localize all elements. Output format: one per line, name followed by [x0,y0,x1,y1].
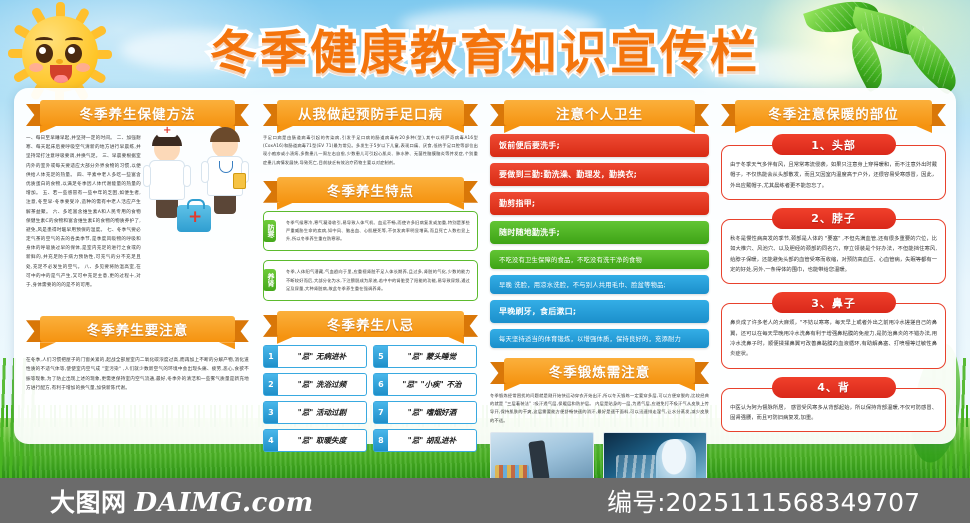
hygiene-item: 早晚 洗脸，用凉水洗脸，不与别人共用毛巾、脸盆等物品; [490,275,709,294]
warmth-card-head: 1、头部 由于冬季天气多伴有风，且常常寒流侵袭，如果只注意身上穿得暖和，而不注意… [721,134,946,200]
card-title: 3、鼻子 [772,292,896,313]
item-number: 6 [374,374,388,395]
list-item: 5"忌" 蒙头睡觉 [373,345,477,368]
warmth-card-back: 4、背 中医认为阿为督脉所居， 感冒受风寒多从背部起始，所以保持背部温暖,不仅可… [721,377,946,433]
section-banner-warm-body-parts: 冬季注意保暖的部位 [721,100,946,126]
section-banner-hfmd: 从我做起预防手足口病 [263,100,478,126]
item-label: "忌" 胡乱进补 [388,435,476,446]
item-number: 4 [264,430,278,451]
hygiene-bar-list: 饭前便后要洗手; 要做到三勤:勤洗澡、勤理发，勤换衣; 勤剪指甲; 随时随地勤洗… [490,134,709,348]
content-panel: 冬季养生保健方法 一、每日至早睡早起,并坚持一定的时间。 二、加强耐寒、每天起床… [14,88,956,444]
list-item: 3"忌" 活动过剧 [263,401,367,424]
characteristic-tag: 养肾 [263,269,276,291]
warmth-card-nose: 3、鼻子 鼻炎成了许多老人的大麻烦，"不妨以寒寒，每天早上或者外出之前用冷水搓搓… [721,292,946,368]
item-number: 7 [374,402,388,423]
card-title: 1、头部 [772,134,896,155]
brand-latin: DAIMG.com [135,488,314,518]
section-title: 冬季养生要注意 [40,316,235,342]
section-title: 冬季养生保健方法 [40,100,235,126]
section-banner-eight-taboos: 冬季养生八忌 [263,311,478,337]
hygiene-item: 随时随地勤洗手; [490,221,709,244]
item-label: "忌" "小疾" 不治 [388,379,476,390]
winter-cautions-text: 在冬季,人们习惯把屋子的门窗关紧的,起战全部屋室内二氧化碳浓度过高,而再加上不断… [26,356,249,393]
list-item: 4"忌" 取暖失度 [263,429,367,452]
eight-taboos-list: 1"忌" 无病进补 5"忌" 蒙头睡觉 2"忌" 洗浴过频 6"忌" "小疾" … [263,345,478,452]
hygiene-item: 早晚刷牙，食后漱口; [490,300,709,323]
section-banner-winter-exercise: 冬季锻炼需注意 [490,358,709,384]
section-title: 冬季养生八忌 [277,311,464,337]
card-body: 鼻炎成了许多老人的大麻烦，"不妨以寒寒，每天早上或者外出之前用冷水搓搓自己的鼻翼… [721,303,946,368]
item-label: "忌" 洗浴过频 [278,379,366,390]
poster-title-wrap: 冬季健康教育知识宣传栏 [0,14,970,83]
column-hfmd-and-characteristics: 从我做起预防手足口病 手足口病是由肠道病毒引起的传染病,引发手足口病的肠道病毒有… [259,96,482,438]
list-item: 8"忌" 胡乱进补 [373,429,477,452]
item-label: "忌" 蒙头睡觉 [388,351,476,362]
doctors-illustration [147,130,251,234]
item-label: "忌" 活动过剧 [278,407,366,418]
list-item: 6"忌" "小疾" 不治 [373,373,477,396]
item-number: 3 [264,402,278,423]
item-number: 5 [374,346,388,367]
section-title: 注意个人卫生 [504,100,695,126]
item-label: "忌" 无病进补 [278,351,366,362]
card-title: 2、脖子 [772,208,896,229]
list-item: 7"忌" 嗜烟好酒 [373,401,477,424]
hygiene-item: 每天坚持适当的体育锻炼，以增强体质，保持良好的，充添耐力 [490,329,709,348]
card-title: 4、背 [772,377,896,398]
section-banner-characteristics: 冬季养生特点 [263,177,478,203]
site-brand: 大图网 DAIMG.com [50,483,314,519]
column-personal-hygiene: 注意个人卫生 饭前便后要洗手; 要做到三勤:勤洗澡、勤理发，勤换衣; 勤剪指甲;… [486,96,713,438]
image-code: 编号:2025111568349707 [607,483,920,519]
hygiene-item: 勤剪指甲; [490,192,709,215]
item-label: "忌" 嗜烟好酒 [388,407,476,418]
item-label: "忌" 取暖失度 [278,435,366,446]
poster-root: 冬季健康教育知识宣传栏 冬季养生保健方法 [0,0,970,523]
footer-bar: 大图网 DAIMG.com 编号:2025111568349707 [0,478,970,523]
section-banner-health-methods: 冬季养生保健方法 [26,100,249,126]
winter-exercise-text: 冬季锻炼经常困扰的问题就是刚开始快运动穿衣开始出汗,所以冬天锻练一定要穿多层,可… [490,392,709,425]
section-title: 冬季养生特点 [277,177,464,203]
section-banner-personal-hygiene: 注意个人卫生 [490,100,709,126]
characteristic-box-kidney-nourishing: 养肾 冬季,人体阳气潜藏,气血趋向于里,应重视肾脏不足人体长期养,且过多,肾脏的… [263,260,478,301]
characteristic-text: 冬季气候寒冷,寒气凝滞收引,易导致人体气机、血运不畅,而使许多旧病复发或加重,特… [286,219,470,244]
list-item: 1"忌" 无病进补 [263,345,367,368]
item-number: 8 [374,430,388,451]
characteristic-text: 冬季,人体阳气潜藏,气血趋向于里,应重视肾脏不足人体长期养,且过多,肾脏的气化,… [286,268,470,293]
medical-kit-icon [177,205,211,232]
hygiene-item: 不吃没有卫生保障的食品，不吃没有洗干净的食物 [490,250,709,269]
hfmd-text: 手足口病是由肠道病毒引起的传染病,引发手足口病的肠道病毒有20多种(型),其中以… [263,134,478,167]
section-banner-winter-cautions: 冬季养生要注意 [26,316,249,342]
section-title: 冬季锻炼需注意 [504,358,695,384]
item-number: 2 [264,374,278,395]
list-item: 2"忌" 洗浴过频 [263,373,367,396]
column-body-parts-warmth: 冬季注意保暖的部位 1、头部 由于冬季天气多伴有风，且常常寒流侵袭，如果只注意身… [717,96,950,438]
poster-title: 冬季健康教育知识宣传栏 [210,14,760,83]
hygiene-item: 饭前便后要洗手; [490,134,709,157]
section-title: 冬季注意保暖的部位 [735,100,932,126]
brand-cn: 大图网 [50,483,127,519]
hygiene-item: 要做到三勤:勤洗澡、勤理发，勤换衣; [490,163,709,186]
warmth-card-neck: 2、脖子 秋冬是慢性病高发的季节,颈部是人体的 "要塞" ,不但先满血管,还有很… [721,208,946,284]
characteristic-tag: 防寒 [263,220,276,242]
item-number: 1 [264,346,278,367]
section-title: 从我做起预防手足口病 [277,100,464,126]
column-health-methods: 冬季养生保健方法 一、每日至早睡早起,并坚持一定的时间。 二、加强耐寒、每天起床… [20,96,255,438]
characteristic-box-cold-protection: 防寒 冬季气候寒冷,寒气凝滞收引,易导致人体气机、血运不畅,而使许多旧病复发或加… [263,211,478,252]
